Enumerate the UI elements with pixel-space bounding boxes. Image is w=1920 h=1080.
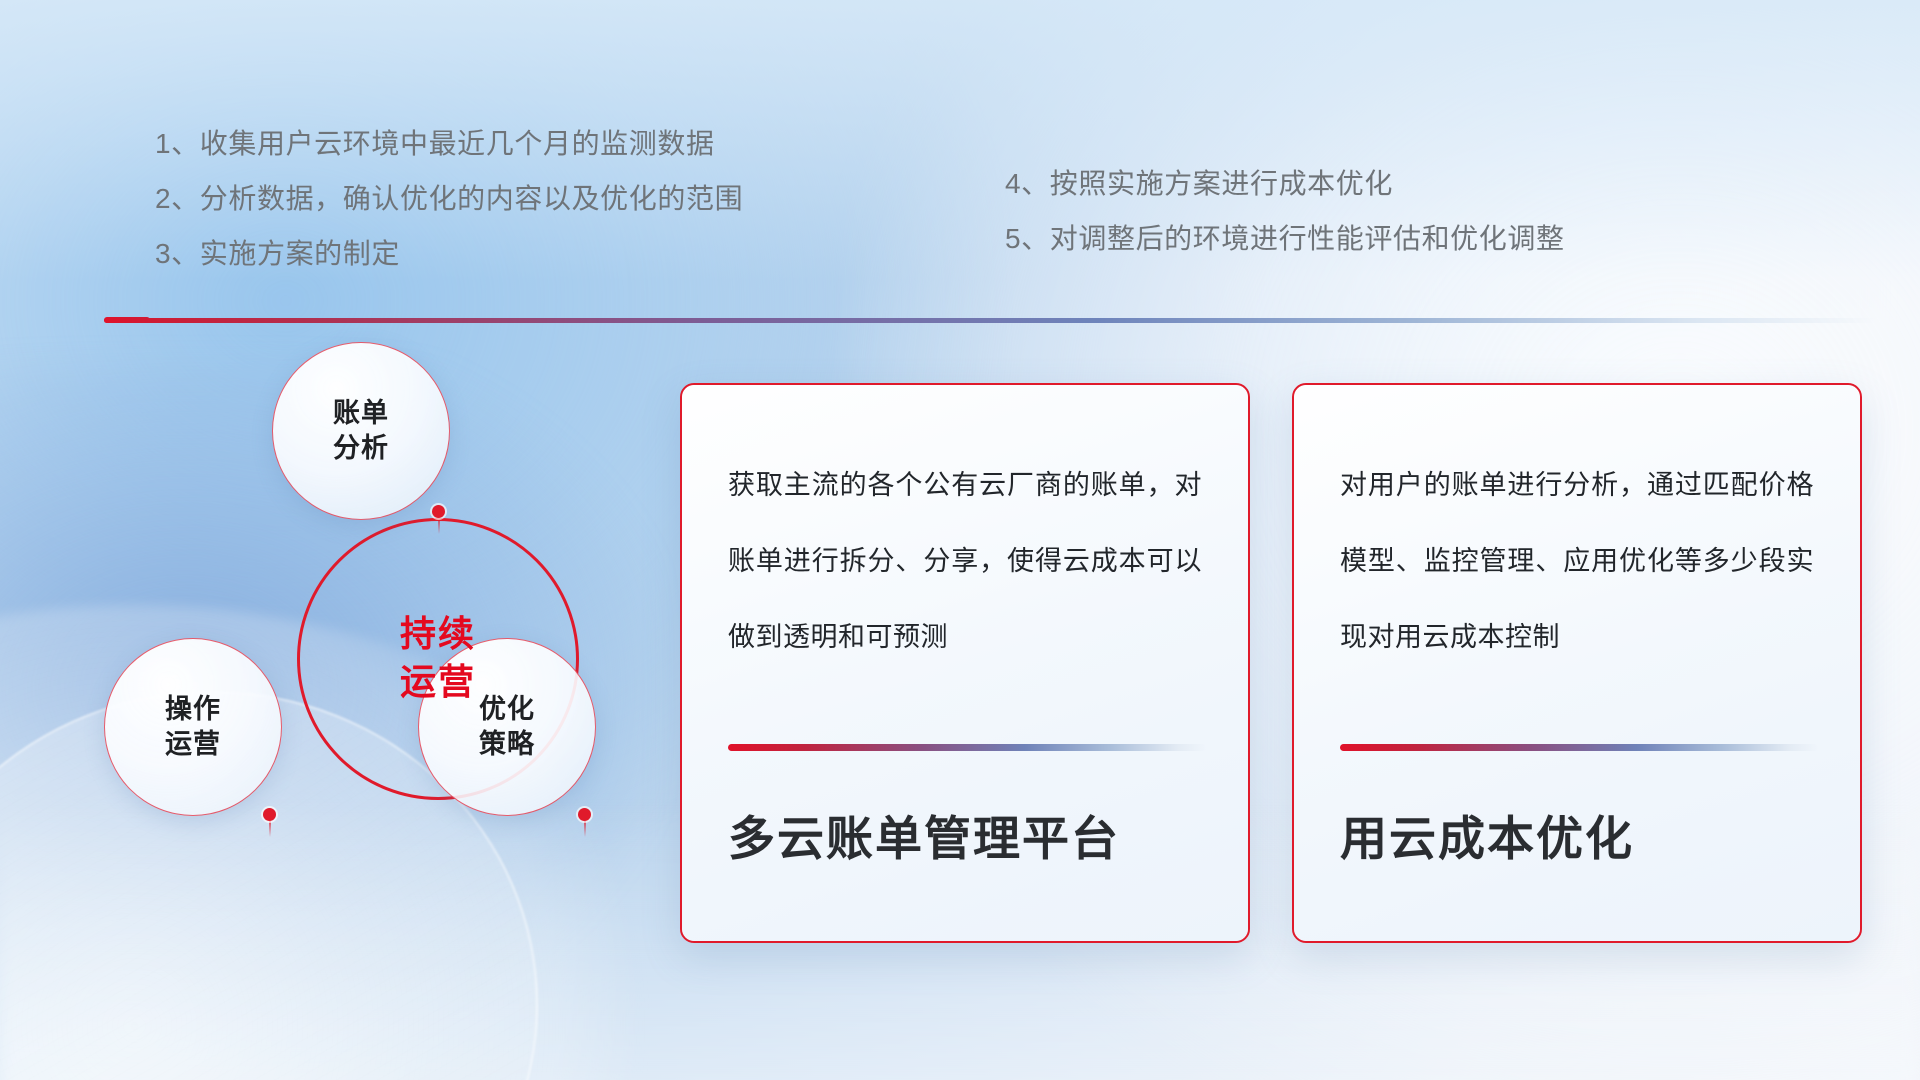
lobe-label-billing-analysis: 账单 分析 xyxy=(333,396,389,466)
diagram-tick-top xyxy=(438,518,440,534)
lobe-line-2: 运营 xyxy=(165,727,221,762)
lobe-line-2: 分析 xyxy=(333,431,389,466)
step-item-1: 1、收集用户云环境中最近几个月的监测数据 xyxy=(155,116,743,171)
lobe-line-2: 策略 xyxy=(479,727,535,762)
card-accent-rule xyxy=(728,744,1206,751)
card-body-text: 对用户的账单进行分析，通过匹配价格模型、监控管理、应用优化等多少段实现对用云成本… xyxy=(1340,447,1814,675)
diagram-lobe-billing-analysis[interactable]: 账单 分析 xyxy=(272,342,450,520)
card-title: 多云账单管理平台 xyxy=(728,800,1208,869)
lobe-line-1: 账单 xyxy=(333,396,389,431)
diagram-tick-left xyxy=(269,821,271,837)
diagram-node-dot-top xyxy=(432,505,445,518)
card-multi-cloud-billing[interactable]: 获取主流的各个公有云厂商的账单，对账单进行拆分、分享，使得云成本可以做到透明和可… xyxy=(680,383,1250,943)
card-cloud-cost-optimization[interactable]: 对用户的账单进行分析，通过匹配价格模型、监控管理、应用优化等多少段实现对用云成本… xyxy=(1292,383,1862,943)
step-item-3: 3、实施方案的制定 xyxy=(155,226,743,281)
lobe-line-1: 操作 xyxy=(165,692,221,727)
step-item-5: 5、对调整后的环境进行性能评估和优化调整 xyxy=(1005,211,1565,266)
step-item-2: 2、分析数据，确认优化的内容以及优化的范围 xyxy=(155,171,743,226)
step-item-4: 4、按照实施方案进行成本优化 xyxy=(1005,156,1565,211)
lobe-label-operations: 操作 运营 xyxy=(165,692,221,762)
diagram-node-dot-left xyxy=(263,808,276,821)
card-body-text: 获取主流的各个公有云厂商的账单，对账单进行拆分、分享，使得云成本可以做到透明和可… xyxy=(728,447,1202,675)
diagram-node-dot-right xyxy=(578,808,591,821)
center-line-2: 运营 xyxy=(297,658,579,706)
diagram-lobe-operations[interactable]: 操作 运营 xyxy=(104,638,282,816)
card-accent-rule xyxy=(1340,744,1818,751)
section-divider xyxy=(104,318,1876,323)
center-line-1: 持续 xyxy=(297,610,579,658)
diagram-tick-right xyxy=(584,821,586,837)
section-divider-cap xyxy=(104,317,150,323)
card-title: 用云成本优化 xyxy=(1340,800,1820,869)
diagram-center-label: 持续 运营 xyxy=(297,610,579,706)
steps-right-column: 4、按照实施方案进行成本优化 5、对调整后的环境进行性能评估和优化调整 xyxy=(1005,156,1565,266)
continuous-operation-diagram: 账单 分析 操作 运营 优化 策略 持续 运营 xyxy=(100,348,660,958)
steps-left-column: 1、收集用户云环境中最近几个月的监测数据 2、分析数据，确认优化的内容以及优化的… xyxy=(155,116,743,281)
